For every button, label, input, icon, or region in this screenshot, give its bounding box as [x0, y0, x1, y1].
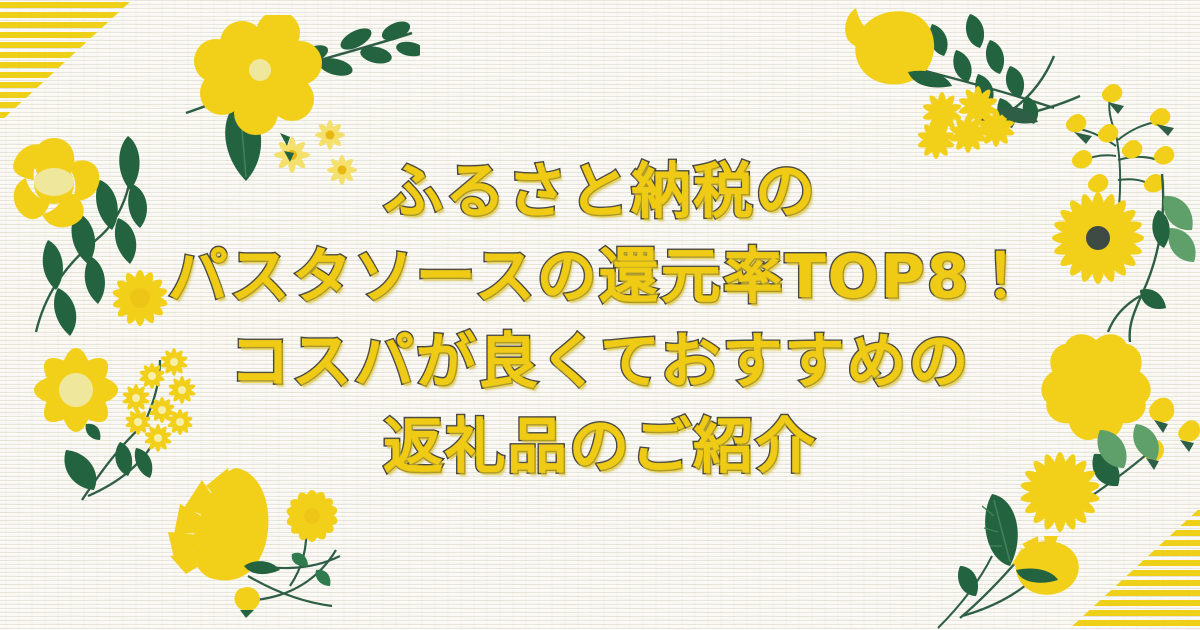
buttercup-bottom-left	[285, 489, 340, 544]
daisy-cluster-top-right	[916, 86, 1015, 159]
leafy-branch-bottom-right	[930, 480, 1060, 630]
eyecatch-canvas: ふるさと納税の パスタソースの還元率TOP8！ コスパが良くておすすめの 返礼品…	[0, 0, 1200, 630]
eyecatch-title: ふるさと納税の パスタソースの還元率TOP8！ コスパが良くておすすめの 返礼品…	[0, 150, 1200, 490]
title-line-4: 返礼品のご紹介	[0, 405, 1200, 490]
title-line-2: パスタソースの還元率TOP8！	[0, 235, 1200, 320]
title-line-1: ふるさと納税の	[0, 150, 1200, 235]
title-line-3: コスパが良くておすすめの	[0, 320, 1200, 405]
